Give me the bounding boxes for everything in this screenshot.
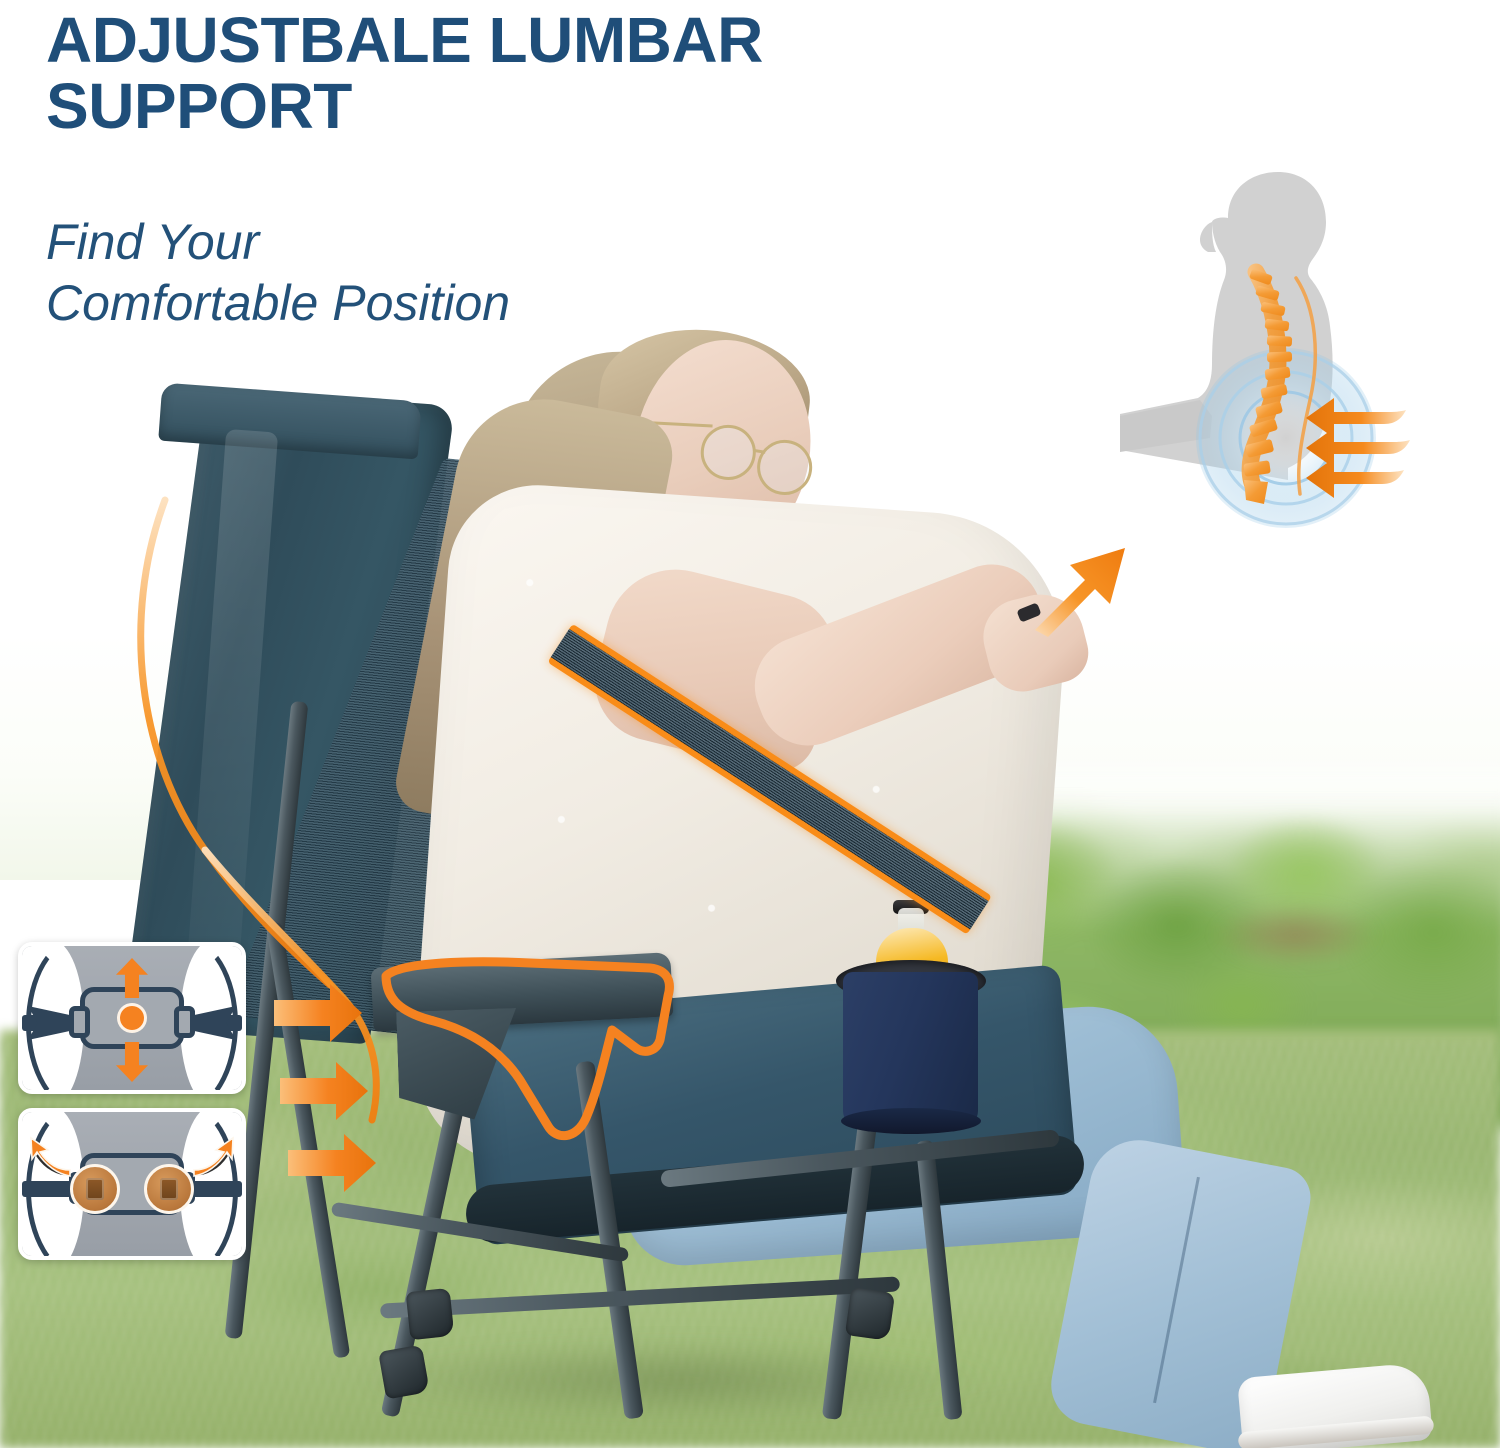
buckle-highlight-left: [70, 1164, 120, 1214]
lumbar-support-anatomy-diagram: [1120, 160, 1500, 530]
dry-branch-patch: [1180, 890, 1410, 980]
lens-right: [753, 436, 816, 499]
headline-line-1: ADJUSTBALE LUMBAR: [46, 8, 1076, 74]
lumbar-strap-tension-inset[interactable]: [18, 1108, 246, 1260]
headline-line-2: SUPPORT: [46, 74, 1076, 140]
buckle-highlight-right: [144, 1164, 194, 1214]
cup-holder-base: [841, 1108, 981, 1134]
buckle-core-right: [160, 1178, 178, 1200]
page-subtitle: Find Your Comfortable Position: [46, 212, 746, 334]
subhead-line-2: Comfortable Position: [46, 273, 746, 334]
buckle-core-left: [86, 1178, 104, 1200]
page-title: ADJUSTBALE LUMBAR SUPPORT: [46, 8, 1076, 140]
lens-left: [697, 421, 760, 484]
lumbar-height-adjustment-inset[interactable]: [18, 942, 246, 1094]
tighten-right-arrow: [190, 1134, 236, 1178]
subhead-line-1: Find Your: [46, 212, 746, 273]
pivot-dot: [120, 1006, 144, 1030]
chair-hinge: [378, 1345, 430, 1400]
chair-hinge: [406, 1288, 455, 1340]
tighten-left-arrow: [28, 1134, 74, 1178]
cup-holder: [843, 972, 978, 1127]
chair-hinge: [845, 1287, 895, 1341]
product-feature-banner: ADJUSTBALE LUMBAR SUPPORT Find Your Comf…: [0, 0, 1500, 1448]
chair-ground-shadow: [230, 1320, 1130, 1440]
